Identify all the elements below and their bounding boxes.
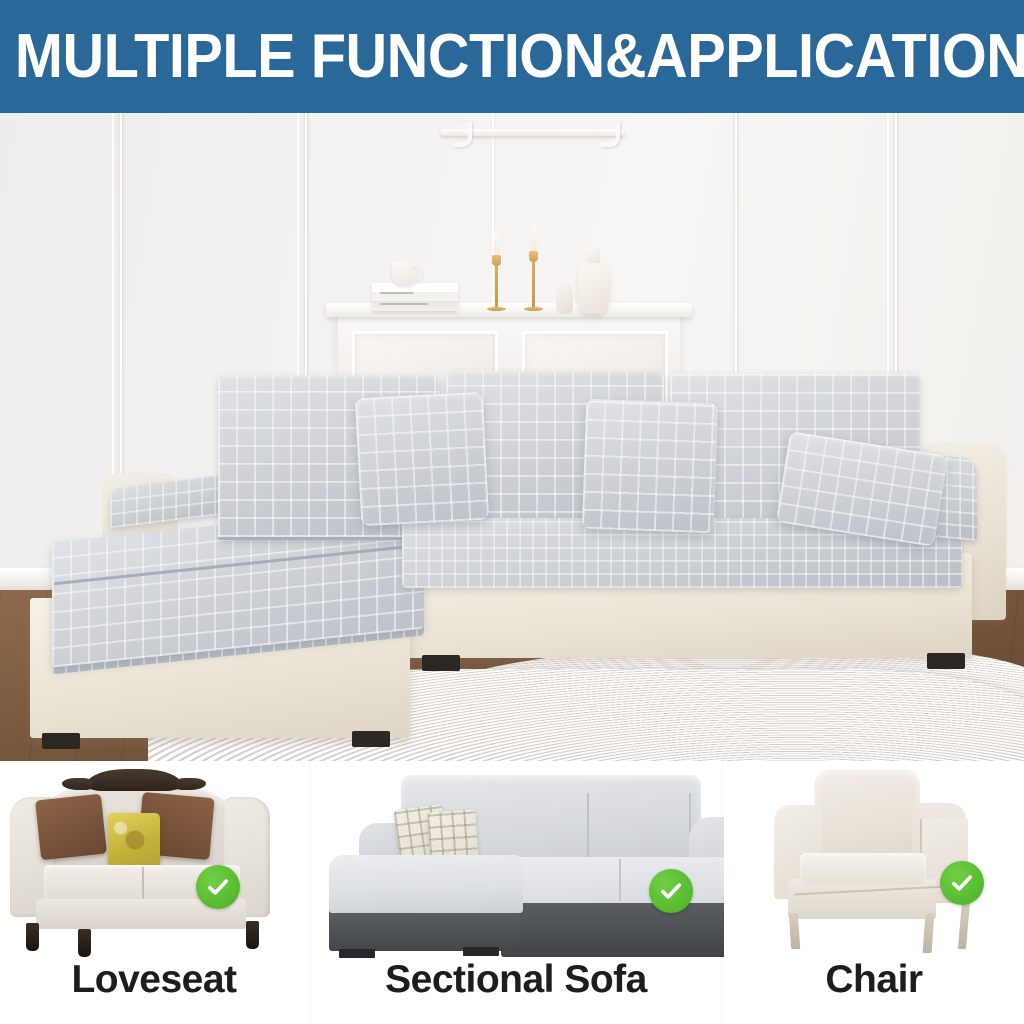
sofa-leg <box>42 733 80 749</box>
chair-seat-base <box>788 879 936 919</box>
sectional-leg <box>463 947 499 956</box>
check-icon <box>205 874 231 900</box>
chair-leg <box>958 901 970 949</box>
loveseat-floral-pillow <box>108 813 160 867</box>
candle-stem <box>495 265 498 309</box>
loveseat-leg <box>78 929 91 957</box>
check-icon <box>949 870 975 896</box>
cushion-cover <box>355 392 490 527</box>
cushion-cover <box>582 399 718 534</box>
chair-illustration <box>724 761 1024 957</box>
sectional-leg <box>339 949 375 958</box>
loveseat-wood-crest <box>86 769 182 791</box>
header-banner: MULTIPLE FUNCTION&APPLICATION <box>0 0 1024 113</box>
panel-chair[interactable]: Chair <box>724 761 1024 1024</box>
sectional-base <box>501 901 753 957</box>
panel-label-sectional-sofa: Sectional Sofa <box>385 959 647 1001</box>
candle-stem <box>532 261 535 309</box>
check-icon <box>658 878 684 904</box>
sofa-leg <box>422 655 460 671</box>
hero-image <box>0 113 1024 761</box>
check-badge-sectional-sofa <box>649 869 693 913</box>
hero-scene <box>0 113 1024 761</box>
panel-loveseat[interactable]: Loveseat <box>0 761 308 1024</box>
loveseat-leg <box>26 923 39 951</box>
decor-books <box>372 283 458 311</box>
check-badge-chair <box>940 861 984 905</box>
book-text-line <box>380 303 428 305</box>
sectional-sofa-illustration <box>311 761 721 957</box>
candle-base <box>487 307 506 311</box>
candle-wax <box>531 225 537 253</box>
wall-hook-icon <box>452 121 472 147</box>
chair-backrest <box>814 769 920 865</box>
chair-seat-cushion <box>800 853 926 885</box>
candle-base <box>524 307 543 311</box>
panel-label-loveseat: Loveseat <box>71 959 236 1001</box>
panel-label-chair: Chair <box>825 959 922 1001</box>
loveseat-brown-pillow <box>35 794 107 861</box>
sofa-leg <box>352 731 390 747</box>
panel-sectional-sofa[interactable]: Sectional Sofa <box>308 761 724 1024</box>
application-panels: Loveseat <box>0 761 1024 1024</box>
check-badge-loveseat <box>196 865 240 909</box>
banner-title: MULTIPLE FUNCTION&APPLICATION <box>0 26 1024 88</box>
sofa-leg <box>927 653 965 669</box>
decor-mug <box>392 261 417 285</box>
candle-wax <box>494 231 500 257</box>
decor-vase-small <box>556 281 573 314</box>
sectional-seat-divider <box>619 859 621 901</box>
sectional-chaise-base <box>329 907 519 951</box>
decor-vase <box>578 258 609 314</box>
product-infographic: MULTIPLE FUNCTION&APPLICATION <box>0 0 1024 1024</box>
chair-leg <box>923 913 935 953</box>
sectional-seat-cushions <box>501 857 749 903</box>
book-text-line <box>380 292 414 294</box>
sectional-chaise-seat <box>329 855 523 913</box>
loveseat-leg <box>246 921 259 949</box>
hero-sofa <box>22 373 982 673</box>
loveseat-illustration <box>0 761 308 957</box>
wall-hook-icon <box>600 121 620 147</box>
loveseat-seat-divider <box>142 867 144 901</box>
